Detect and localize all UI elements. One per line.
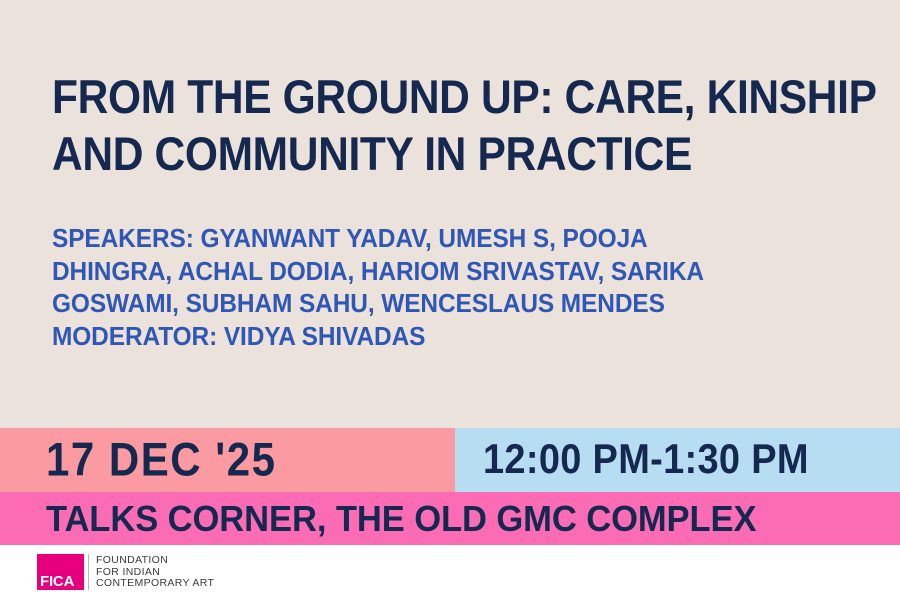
speakers-line-3: GOSWAMI, SUBHAM SAHU, WENCESLAUS MENDES (52, 287, 832, 320)
logo-divider (88, 554, 89, 590)
fica-logo-wordmark: FOUNDATION FOR INDIAN CONTEMPORARY ART (96, 554, 214, 590)
event-venue: TALKS CORNER, THE OLD GMC COMPLEX (46, 498, 756, 540)
event-time-block: 12:00 PM-1:30 PM (455, 428, 900, 492)
logo-word-line-3: CONTEMPORARY ART (96, 578, 214, 590)
date-time-band: 17 DEC '25 12:00 PM-1:30 PM (0, 428, 900, 492)
speakers-line-2: DHINGRA, ACHAL DODIA, HARIOM SRIVASTAV, … (52, 255, 832, 288)
page-title: FROM THE GROUND UP: CARE, KINSHIP AND CO… (52, 68, 872, 182)
poster-background (0, 0, 900, 428)
fica-logo-mark-label: FICA (40, 574, 74, 589)
event-date: 17 DEC '25 (46, 433, 276, 487)
event-venue-block: TALKS CORNER, THE OLD GMC COMPLEX (0, 492, 900, 545)
fica-logo-mark: FICA (37, 554, 84, 590)
event-time: 12:00 PM-1:30 PM (483, 436, 809, 483)
speakers-block: SPEAKERS: GYANWANT YADAV, UMESH S, POOJA… (52, 222, 882, 352)
title-line-1: FROM THE GROUND UP: CARE, KINSHIP (52, 68, 794, 125)
event-date-block: 17 DEC '25 (0, 428, 455, 492)
title-line-2: AND COMMUNITY IN PRACTICE (52, 125, 794, 182)
moderator-line: MODERATOR: VIDYA SHIVADAS (52, 320, 832, 353)
speakers-line-1: SPEAKERS: GYANWANT YADAV, UMESH S, POOJA (52, 222, 832, 255)
event-poster: FROM THE GROUND UP: CARE, KINSHIP AND CO… (0, 0, 900, 600)
fica-logo: FICA FOUNDATION FOR INDIAN CONTEMPORARY … (37, 554, 214, 590)
